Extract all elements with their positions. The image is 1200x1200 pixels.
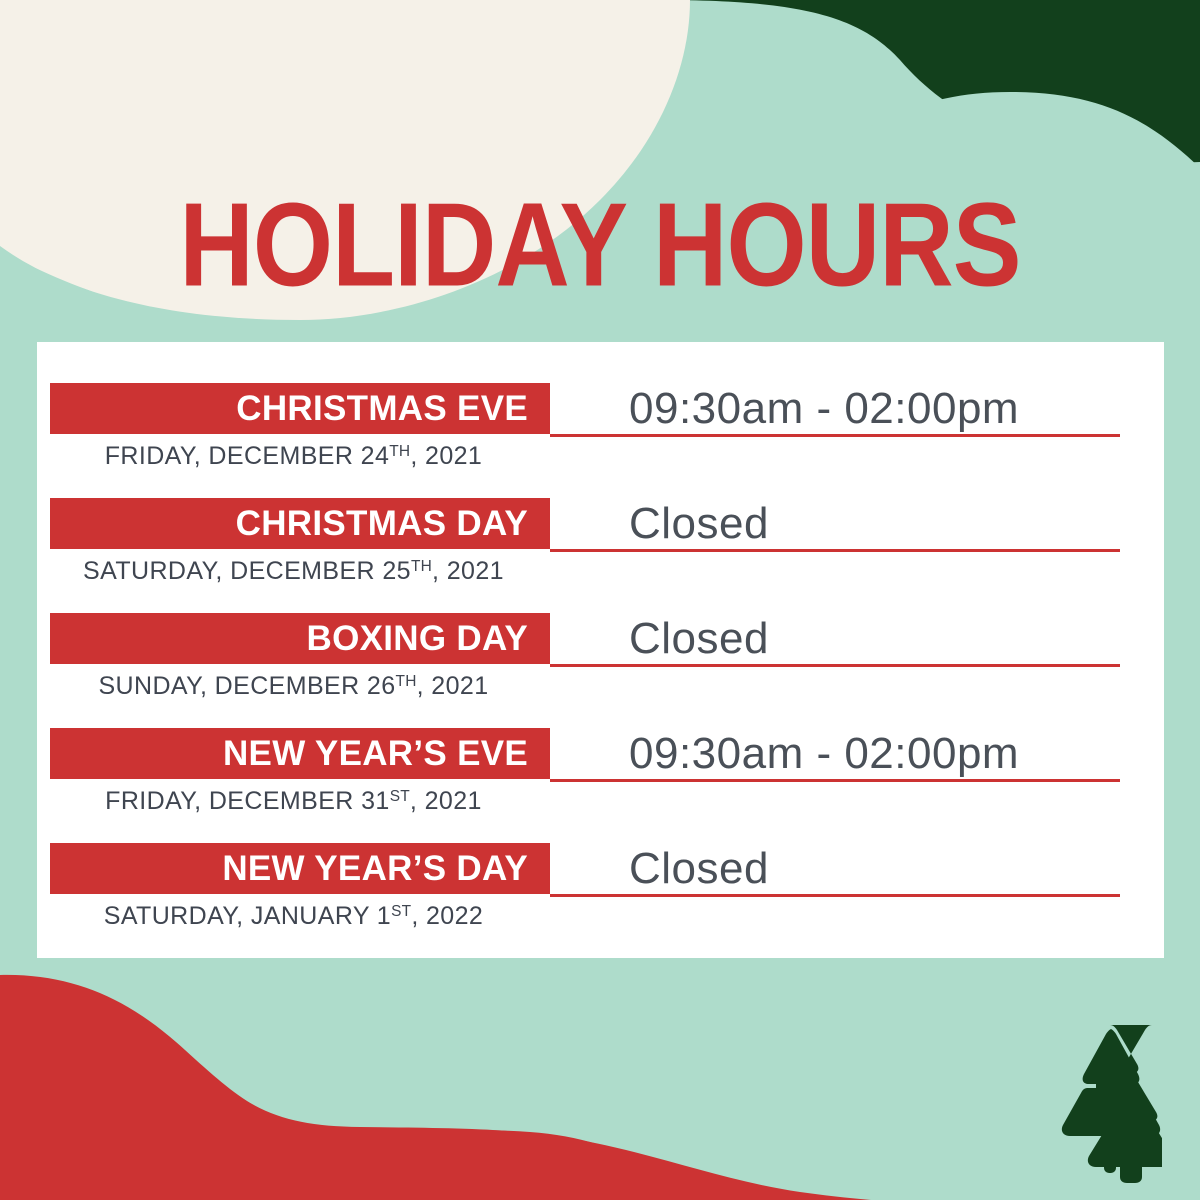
holiday-hours-value: 09:30am - 02:00pm	[629, 730, 1019, 778]
hours-card: CHRISTMAS EVE 09:30am - 02:00pm FRIDAY, …	[37, 342, 1164, 958]
holiday-date-suffix: , 2022	[411, 902, 483, 930]
holiday-name: CHRISTMAS EVE	[50, 390, 528, 425]
holiday-date-prefix: FRIDAY, DECEMBER 24	[105, 442, 390, 470]
holiday-date: FRIDAY, DECEMBER 31ST, 2021	[37, 782, 550, 816]
schedule-row: NEW YEAR’S DAY Closed SATURDAY, JANUARY …	[37, 843, 1164, 958]
holiday-date-prefix: SUNDAY, DECEMBER 26	[98, 672, 395, 700]
row-underline	[550, 549, 1120, 552]
holiday-date-ordinal: TH	[411, 558, 432, 575]
holiday-name-plate: CHRISTMAS DAY	[50, 498, 550, 549]
holiday-date-suffix: , 2021	[410, 787, 482, 815]
row-underline	[550, 894, 1120, 897]
schedule-row: BOXING DAY Closed SUNDAY, DECEMBER 26TH,…	[37, 613, 1164, 728]
holiday-hours-value: 09:30am - 02:00pm	[629, 385, 1019, 433]
holiday-hours-value: Closed	[629, 615, 769, 663]
holiday-hours-poster: HOLIDAY HOURS CHRISTMAS EVE 09:30am - 02…	[0, 0, 1200, 1200]
holiday-date-ordinal: TH	[396, 673, 417, 690]
holiday-date-suffix: , 2021	[410, 442, 482, 470]
holiday-name: NEW YEAR’S EVE	[50, 735, 528, 770]
holiday-date: SUNDAY, DECEMBER 26TH, 2021	[37, 667, 550, 701]
holiday-date-prefix: SATURDAY, DECEMBER 25	[83, 557, 411, 585]
holiday-date-ordinal: TH	[389, 443, 410, 460]
holiday-date: SATURDAY, DECEMBER 25TH, 2021	[37, 552, 550, 586]
holiday-name: NEW YEAR’S DAY	[50, 850, 528, 885]
row-underline	[550, 664, 1120, 667]
holiday-date: FRIDAY, DECEMBER 24TH, 2021	[37, 437, 550, 471]
holiday-date: SATURDAY, JANUARY 1ST, 2022	[37, 897, 550, 931]
holiday-name-plate: BOXING DAY	[50, 613, 550, 664]
holiday-date-ordinal: ST	[390, 788, 410, 805]
holiday-name-plate: NEW YEAR’S DAY	[50, 843, 550, 894]
holiday-hours-value: Closed	[629, 500, 769, 548]
holiday-name-plate: CHRISTMAS EVE	[50, 383, 550, 434]
schedule-row: NEW YEAR’S EVE 09:30am - 02:00pm FRIDAY,…	[37, 728, 1164, 843]
holiday-date-prefix: SATURDAY, JANUARY 1	[104, 902, 391, 930]
schedule-row: CHRISTMAS DAY Closed SATURDAY, DECEMBER …	[37, 498, 1164, 613]
christmas-tree-icon	[1058, 1023, 1162, 1183]
page-title: HOLIDAY HOURS	[48, 186, 1152, 305]
holiday-date-suffix: , 2021	[417, 672, 489, 700]
holiday-hours-value: Closed	[629, 845, 769, 893]
schedule-row: CHRISTMAS EVE 09:30am - 02:00pm FRIDAY, …	[37, 383, 1164, 498]
holiday-date-suffix: , 2021	[432, 557, 504, 585]
holiday-name: CHRISTMAS DAY	[50, 505, 528, 540]
holiday-date-ordinal: ST	[391, 903, 411, 920]
holiday-name-plate: NEW YEAR’S EVE	[50, 728, 550, 779]
row-underline	[550, 779, 1120, 782]
row-underline	[550, 434, 1120, 437]
holiday-name: BOXING DAY	[50, 620, 528, 655]
holiday-date-prefix: FRIDAY, DECEMBER 31	[105, 787, 390, 815]
